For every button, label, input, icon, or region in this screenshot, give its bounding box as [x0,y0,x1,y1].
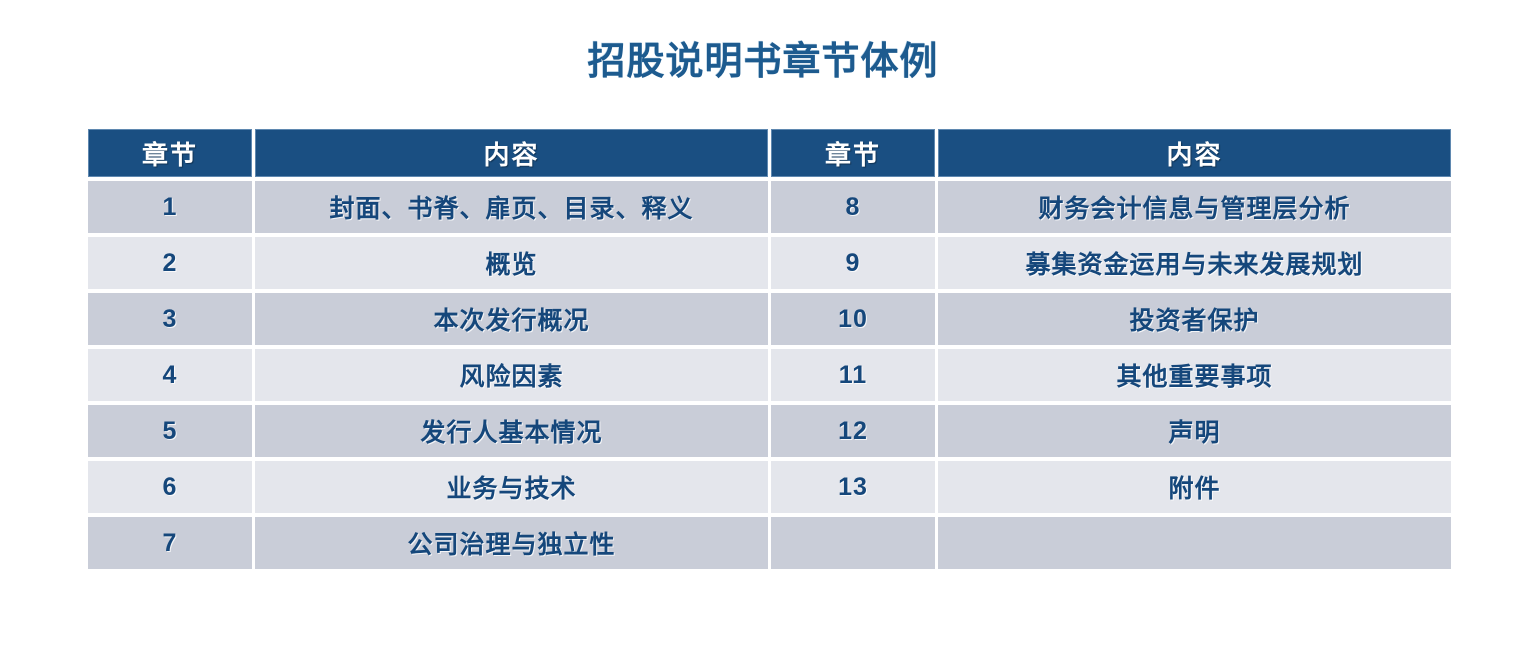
column-header-content-right: 内容 [938,129,1451,177]
cell-chapter-content-left: 发行人基本情况 [255,405,768,457]
cell-chapter-number-right: 9 [771,237,935,289]
chapter-structure-table: 章节 内容 章节 内容 1封面、书脊、扉页、目录、释义8财务会计信息与管理层分析… [85,125,1454,573]
column-header-content-left: 内容 [255,129,768,177]
cell-chapter-number-left: 6 [88,461,252,513]
cell-empty [938,517,1451,569]
cell-chapter-number-right: 11 [771,349,935,401]
table-body: 1封面、书脊、扉页、目录、释义8财务会计信息与管理层分析2概览9募集资金运用与未… [88,181,1451,569]
table-header: 章节 内容 章节 内容 [88,129,1451,177]
page-title: 招股说明书章节体例 [0,30,1526,85]
cell-chapter-number-left: 2 [88,237,252,289]
cell-chapter-content-right: 其他重要事项 [938,349,1451,401]
table-row: 5发行人基本情况12声明 [88,405,1451,457]
cell-chapter-content-right: 附件 [938,461,1451,513]
table-header-row: 章节 内容 章节 内容 [88,129,1451,177]
cell-chapter-number-right: 13 [771,461,935,513]
cell-chapter-number-left: 3 [88,293,252,345]
cell-chapter-content-right: 募集资金运用与未来发展规划 [938,237,1451,289]
cell-chapter-content-right: 财务会计信息与管理层分析 [938,181,1451,233]
cell-chapter-content-left: 概览 [255,237,768,289]
cell-empty [771,517,935,569]
cell-chapter-number-left: 5 [88,405,252,457]
table-row: 6业务与技术13附件 [88,461,1451,513]
table-row: 2概览9募集资金运用与未来发展规划 [88,237,1451,289]
cell-chapter-number-right: 12 [771,405,935,457]
cell-chapter-content-left: 本次发行概况 [255,293,768,345]
cell-chapter-number-left: 1 [88,181,252,233]
cell-chapter-number-left: 4 [88,349,252,401]
table-row: 4风险因素11其他重要事项 [88,349,1451,401]
cell-chapter-content-left: 封面、书脊、扉页、目录、释义 [255,181,768,233]
table-row: 7公司治理与独立性 [88,517,1451,569]
table-row: 3本次发行概况10投资者保护 [88,293,1451,345]
cell-chapter-number-right: 10 [771,293,935,345]
cell-chapter-number-right: 8 [771,181,935,233]
cell-chapter-content-left: 公司治理与独立性 [255,517,768,569]
cell-chapter-content-left: 业务与技术 [255,461,768,513]
column-header-chapter-left: 章节 [88,129,252,177]
slide-root: 招股说明书章节体例 章节 内容 章节 内容 1封面、书脊、扉页、目录、释义8财务… [0,0,1526,645]
cell-chapter-number-left: 7 [88,517,252,569]
cell-chapter-content-right: 投资者保护 [938,293,1451,345]
cell-chapter-content-left: 风险因素 [255,349,768,401]
table-row: 1封面、书脊、扉页、目录、释义8财务会计信息与管理层分析 [88,181,1451,233]
column-header-chapter-right: 章节 [771,129,935,177]
cell-chapter-content-right: 声明 [938,405,1451,457]
